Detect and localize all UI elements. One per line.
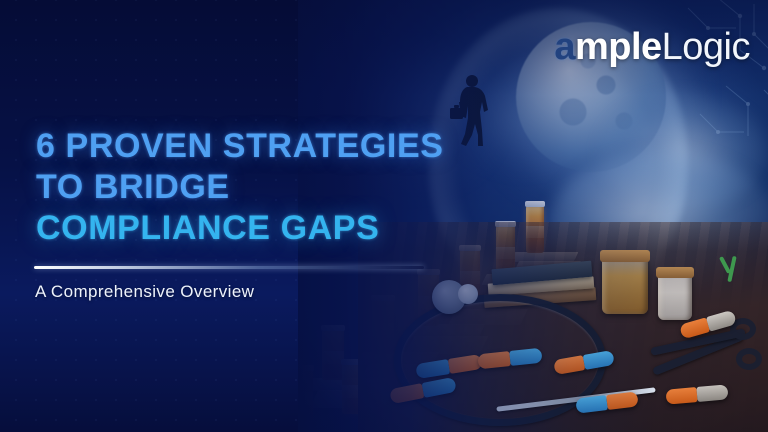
page-title: 6 PROVEN STRATEGIES TO BRIDGE COMPLIANCE… bbox=[36, 126, 444, 249]
logo-text-mple: mple bbox=[575, 26, 662, 68]
logo-letter-a: a bbox=[554, 26, 575, 68]
promotional-slide: ampleLogic 6 PROVEN STRATEGIES TO BRIDGE… bbox=[0, 0, 768, 432]
headline-line-2: TO BRIDGE bbox=[36, 167, 444, 208]
headline-line-3: COMPLIANCE GAPS bbox=[36, 208, 444, 249]
slide-content: ampleLogic 6 PROVEN STRATEGIES TO BRIDGE… bbox=[0, 0, 768, 432]
amplelogic-logo[interactable]: ampleLogic bbox=[554, 28, 750, 66]
headline-line-1: 6 PROVEN STRATEGIES bbox=[36, 126, 444, 167]
title-divider bbox=[34, 266, 424, 269]
subtitle: A Comprehensive Overview bbox=[35, 281, 254, 303]
logo-text-logic: Logic bbox=[662, 26, 750, 68]
